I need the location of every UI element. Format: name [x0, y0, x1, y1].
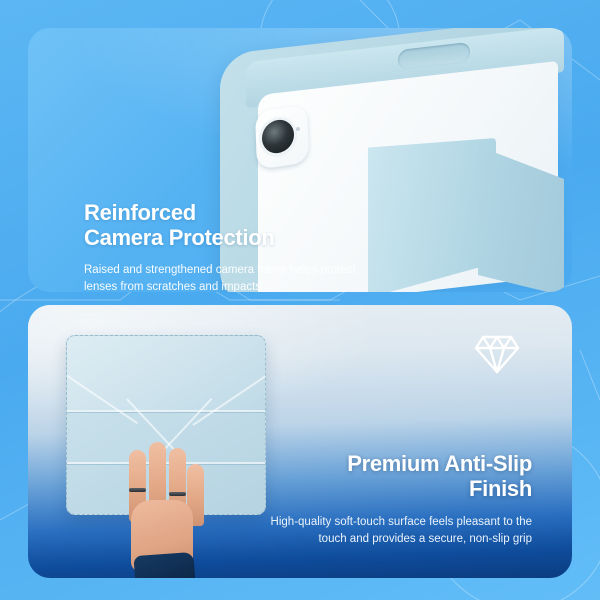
panel-bottom-title: Premium Anti-Slip Finish [262, 451, 532, 502]
ring-jewelry-1 [129, 488, 146, 492]
hand-holding-case [113, 442, 223, 578]
ring-jewelry-2 [169, 492, 186, 496]
sleeve-cuff [133, 552, 196, 578]
panel-bottom-title-line1: Premium Anti-Slip [262, 451, 532, 477]
panel-top-title-line2: Camera Protection [84, 225, 384, 250]
fold-panel-highlight [67, 336, 266, 410]
panel-premium-anti-slip-finish: Premium Anti-Slip Finish High-quality so… [28, 305, 572, 578]
panel-top-title: Reinforced Camera Protection [84, 200, 384, 250]
panel-bottom-text-block: Premium Anti-Slip Finish High-quality so… [262, 451, 532, 548]
panel-top-text-block: Reinforced Camera Protection Raised and … [84, 200, 384, 292]
product-feature-page: Reinforced Camera Protection Raised and … [0, 0, 600, 600]
panel-bottom-title-line2: Finish [262, 476, 532, 502]
diamond-icon [474, 333, 520, 380]
panel-bottom-body: High-quality soft-touch surface feels pl… [262, 514, 532, 548]
panel-reinforced-camera-protection: Reinforced Camera Protection Raised and … [28, 28, 572, 292]
fold-crease-shadow-1 [67, 412, 266, 413]
panel-top-body: Raised and strengthened camera frame hel… [84, 262, 384, 292]
panel-top-title-line1: Reinforced [84, 200, 384, 225]
